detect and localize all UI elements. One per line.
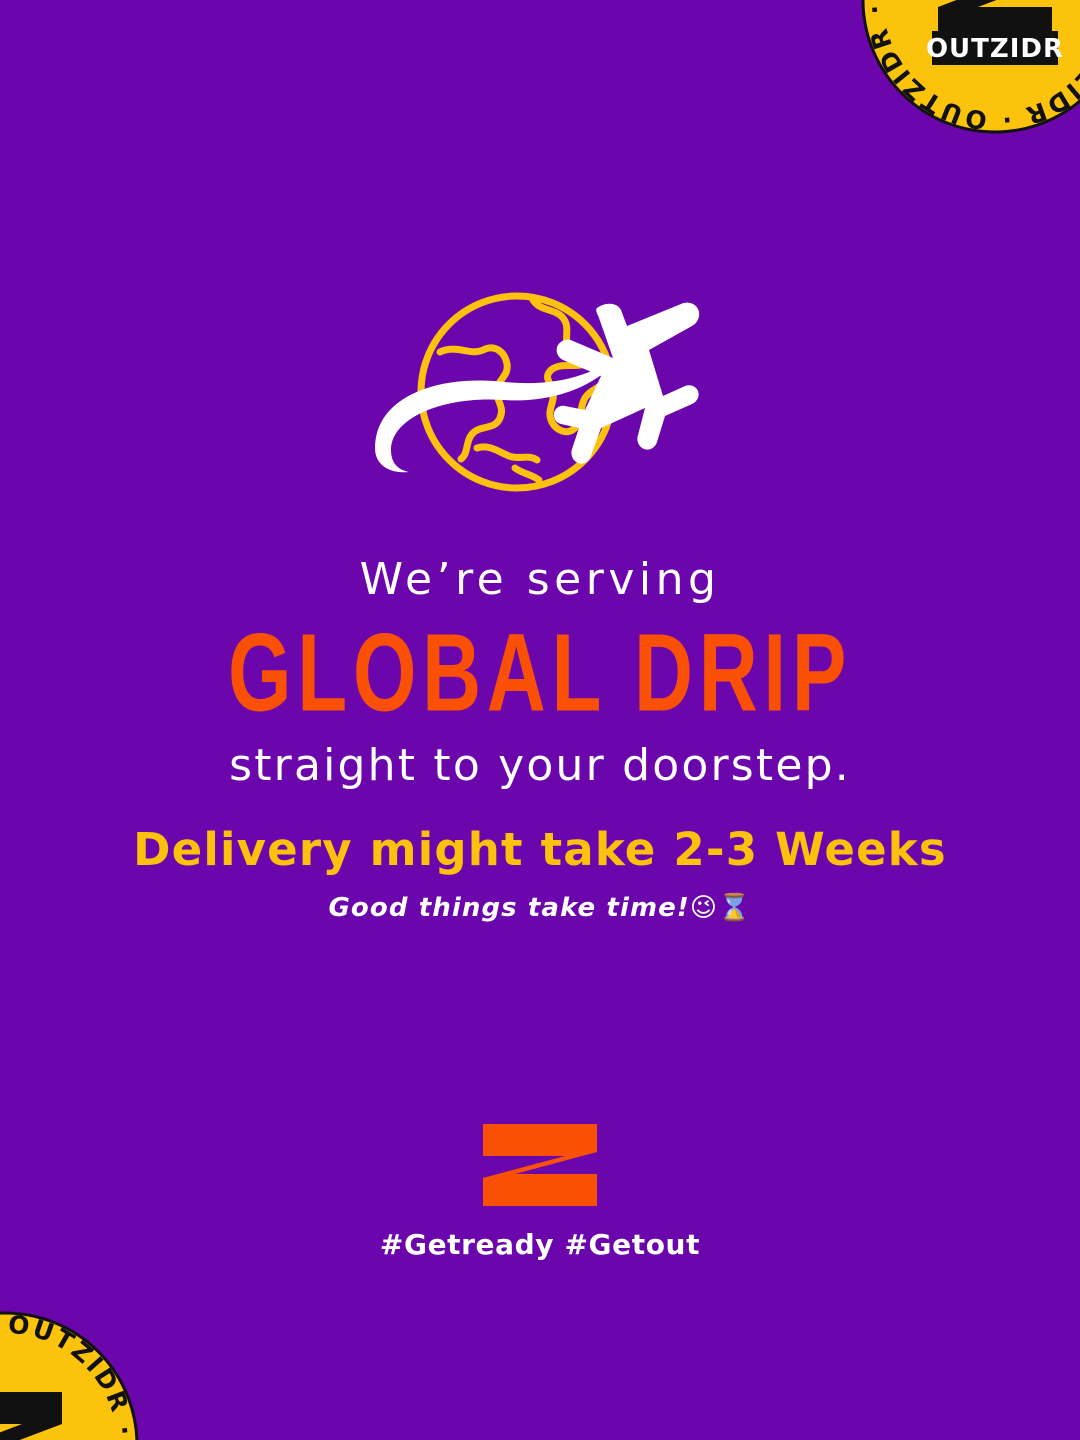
headline-block: We’re serving GLOBAL DRIP straight to yo… bbox=[0, 552, 1080, 794]
delivery-note-emoji: 😉⌛ bbox=[690, 893, 752, 923]
delivery-block: Delivery might take 2-3 Weeks Good thing… bbox=[0, 822, 1080, 925]
delivery-note: Good things take time!😉⌛ bbox=[0, 891, 1080, 925]
badge-center-z-logo: OUTZIDR bbox=[926, 0, 1064, 65]
outzidr-badge-bottom-left: OUTZIDR · OUTZIDR · OUTZIDR · OUTZIDR · … bbox=[0, 1300, 150, 1440]
footer-block: #Getready #Getout bbox=[0, 1122, 1080, 1263]
footer-hashtags: #Getready #Getout bbox=[0, 1227, 1080, 1263]
delivery-note-text: Good things take time! bbox=[328, 893, 689, 923]
outzidr-z-logo bbox=[479, 1122, 601, 1208]
globe-with-airplane-illustration bbox=[365, 278, 715, 510]
page-title: GLOBAL DRIP bbox=[27, 612, 1053, 735]
headline-subline: straight to your doorstep. bbox=[0, 738, 1080, 794]
outzidr-badge-top-right: OUTZIDR · OUTZIDR · OUTZIDR · OUTZIDR · … bbox=[850, 0, 1080, 145]
promo-poster: OUTZIDR · OUTZIDR · OUTZIDR · OUTZIDR · … bbox=[0, 0, 1080, 1440]
delivery-headline: Delivery might take 2-3 Weeks bbox=[0, 822, 1080, 878]
headline-kicker: We’re serving bbox=[0, 552, 1080, 608]
badge-center-word: OUTZIDR bbox=[926, 34, 1064, 64]
